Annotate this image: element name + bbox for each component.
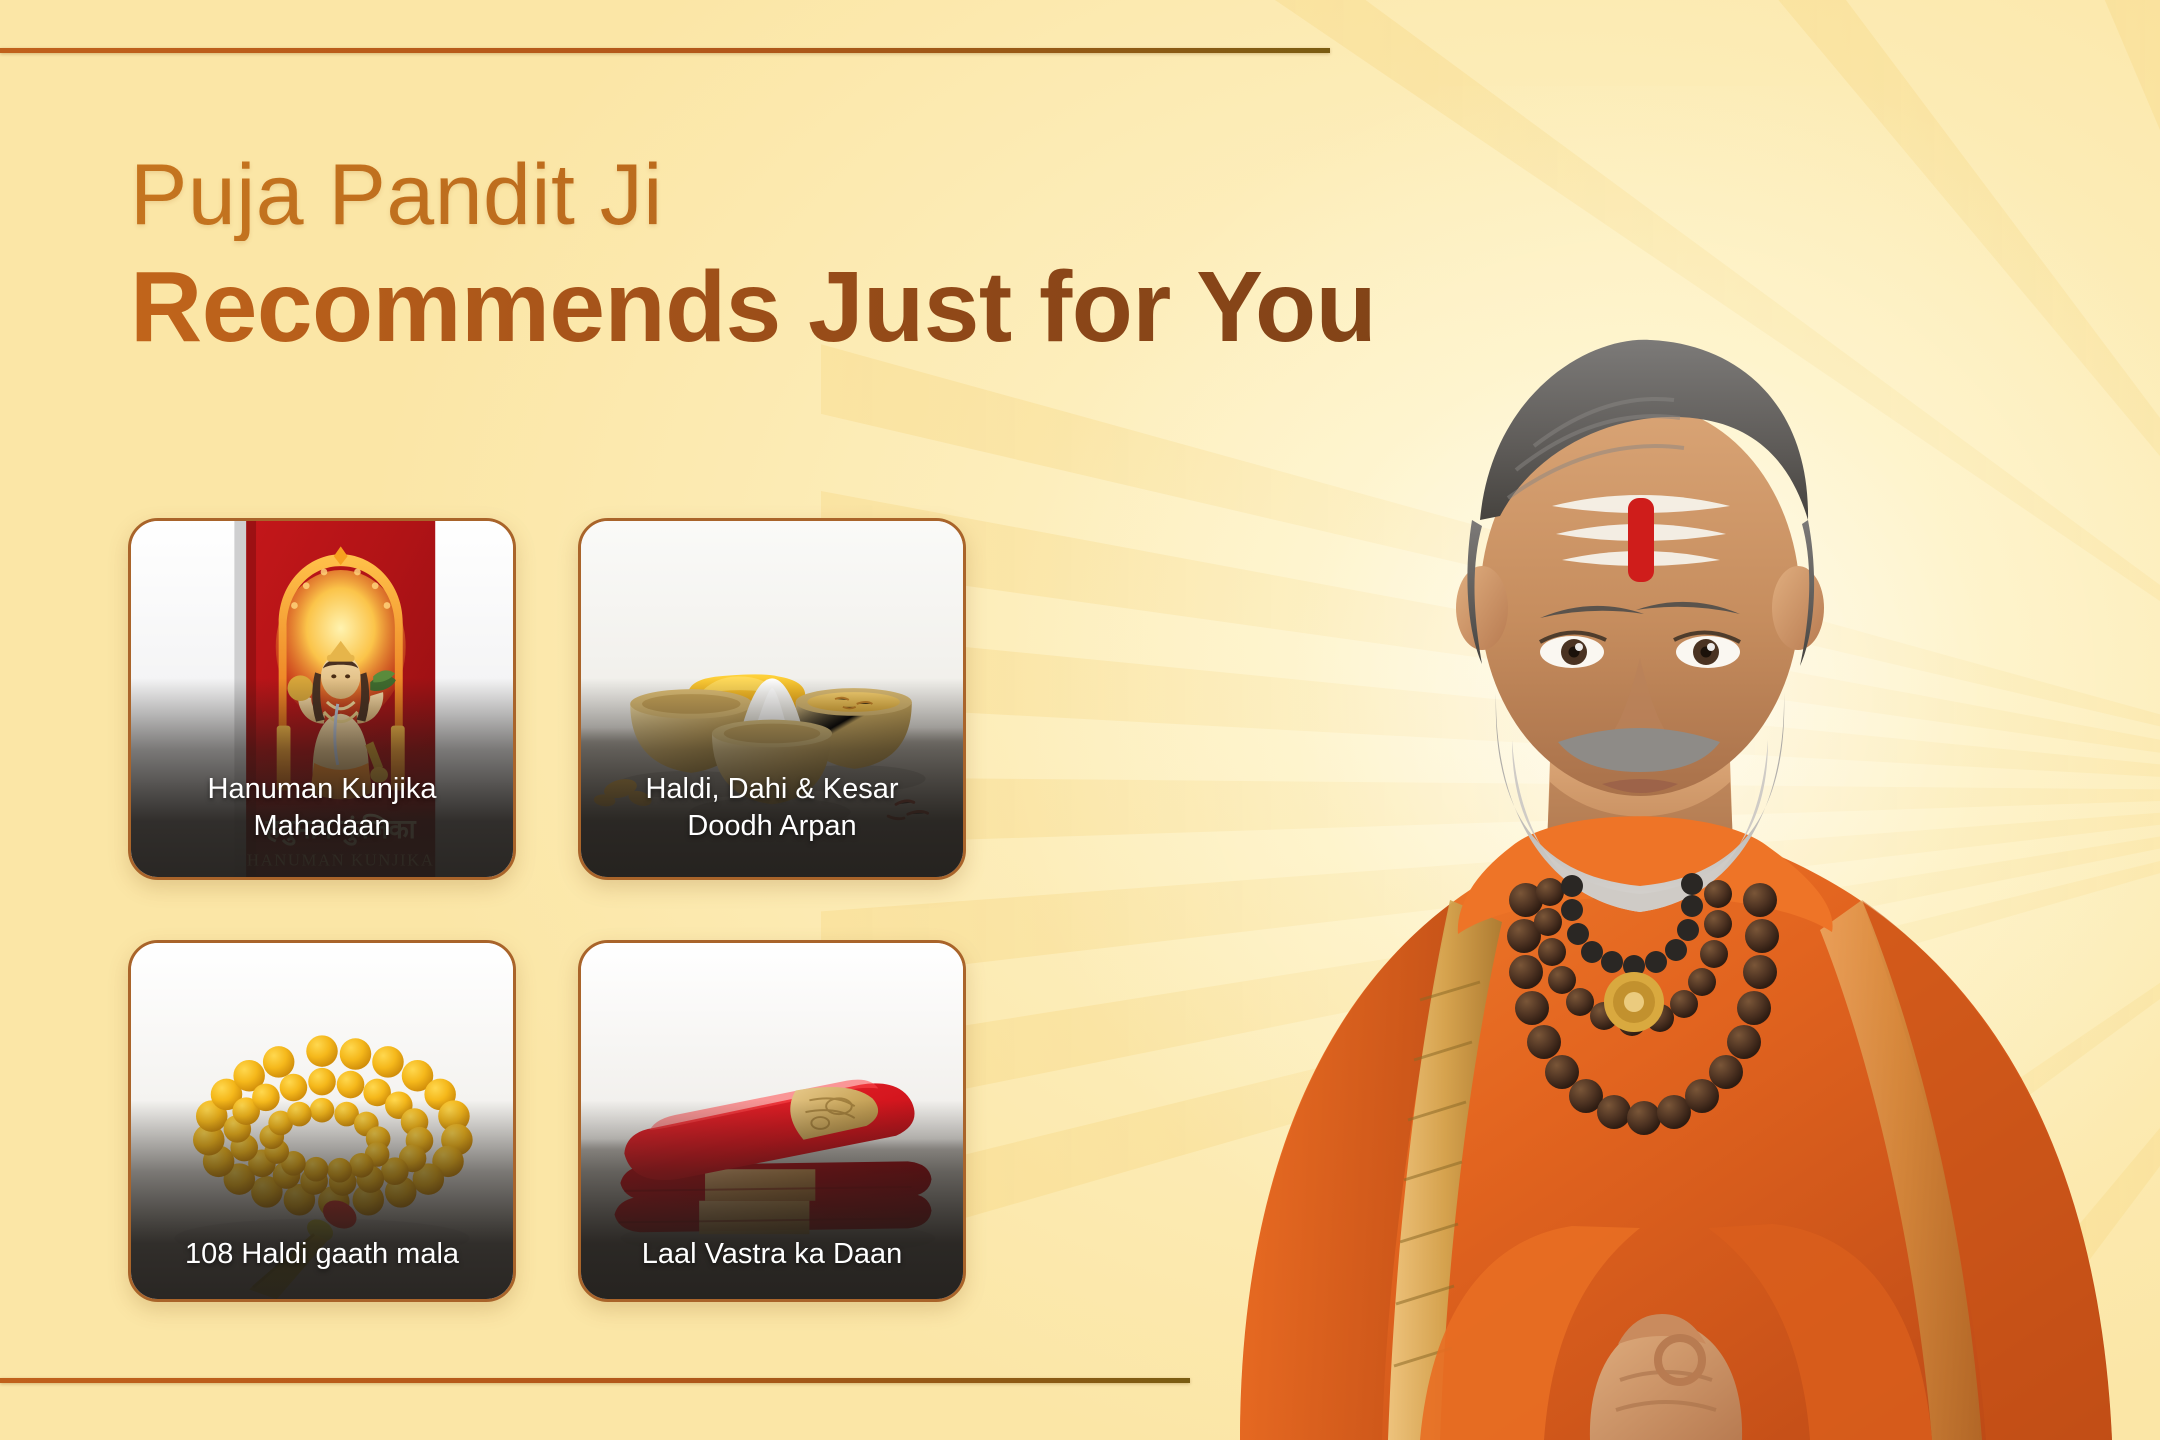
product-caption: Laal Vastra ka Daan <box>595 1236 949 1273</box>
product-caption: Haldi, Dahi & Kesar Doodh Arpan <box>595 771 949 845</box>
top-divider-rule <box>0 48 1330 53</box>
headline-block: Puja Pandit Ji Recommends Just for You <box>130 150 1530 359</box>
headline-line-2: Recommends Just for You <box>130 255 1530 359</box>
bottom-divider-rule <box>0 1378 1190 1383</box>
product-card-haldi-dahi-kesar[interactable]: Haldi, Dahi & Kesar Doodh Arpan <box>578 518 966 880</box>
product-card-hanuman-kunjika[interactable]: हनुमान कुंजिका HANUMAN KUNJIKA Hanuman K… <box>128 518 516 880</box>
promo-banner: Puja Pandit Ji Recommends Just for You <box>0 0 2160 1440</box>
recommended-products-grid: हनुमान कुंजिका HANUMAN KUNJIKA Hanuman K… <box>128 518 966 1302</box>
product-caption: 108 Haldi gaath mala <box>145 1236 499 1273</box>
product-card-laal-vastra[interactable]: Laal Vastra ka Daan <box>578 940 966 1302</box>
headline-line-1: Puja Pandit Ji <box>130 150 1530 241</box>
product-caption: Hanuman Kunjika Mahadaan <box>145 771 499 845</box>
product-card-haldi-gaath-mala[interactable]: 108 Haldi gaath mala <box>128 940 516 1302</box>
svg-text:HANUMAN KUNJIKA: HANUMAN KUNJIKA <box>247 850 435 869</box>
